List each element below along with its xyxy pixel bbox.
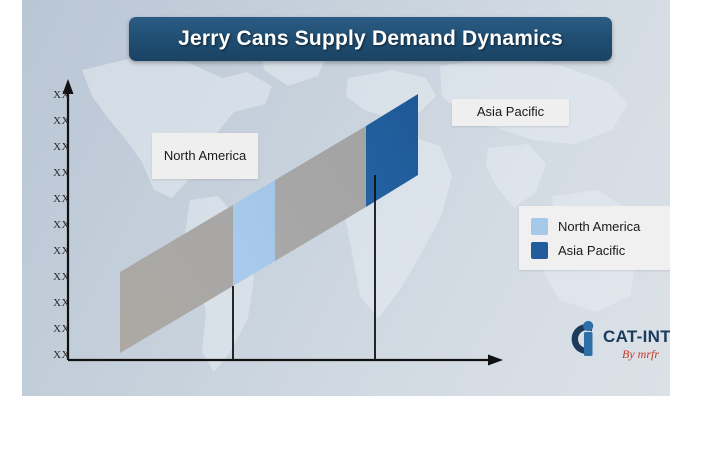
north-america-callout: North America (152, 133, 258, 179)
y-tick-label: XX (44, 297, 70, 309)
y-tick-label: XX (44, 167, 70, 179)
logo-byline: By mrfr (622, 347, 659, 362)
y-tick-label: XX (44, 271, 70, 283)
band-segment-1 (120, 205, 233, 353)
y-tick-label: XX (44, 245, 70, 257)
north-america-callout-label: North America (164, 149, 246, 164)
y-axis-tick-labels: XX XX XX XX XX XX XX XX XX XX XX (40, 0, 70, 396)
brand-logo: CAT-INTEL By mrfr (562, 316, 670, 372)
legend-label-north-america: North America (558, 219, 640, 234)
chart-panel: XX XX XX XX XX XX XX XX XX XX XX North A… (22, 0, 670, 396)
y-tick-label: XX (44, 141, 70, 153)
title-banner: Jerry Cans Supply Demand Dynamics (129, 17, 612, 61)
y-tick-label: XX (44, 323, 70, 335)
y-tick-label: XX (44, 219, 70, 231)
asia-pacific-callout-label: Asia Pacific (477, 105, 544, 120)
x-axis (68, 355, 503, 366)
page-title: Jerry Cans Supply Demand Dynamics (178, 27, 563, 51)
cat-intel-logo-icon (562, 318, 606, 360)
band-segment-north-america (233, 180, 275, 286)
logo-wordmark: CAT-INTEL (603, 327, 670, 347)
legend-item-north-america[interactable]: North America (531, 214, 670, 238)
y-tick-label: XX (44, 349, 70, 361)
legend-label-asia-pacific: Asia Pacific (558, 243, 625, 258)
y-tick-label: XX (44, 89, 70, 101)
legend-item-asia-pacific[interactable]: Asia Pacific (531, 238, 670, 262)
asia-pacific-callout: Asia Pacific (452, 99, 569, 126)
chart-legend: North America Asia Pacific (519, 206, 670, 270)
y-tick-label: XX (44, 115, 70, 127)
band-segment-3 (275, 126, 366, 261)
y-tick-label: XX (44, 193, 70, 205)
legend-swatch-north-america (531, 218, 548, 235)
legend-swatch-asia-pacific (531, 242, 548, 259)
band-segment-asia-pacific (366, 94, 418, 207)
